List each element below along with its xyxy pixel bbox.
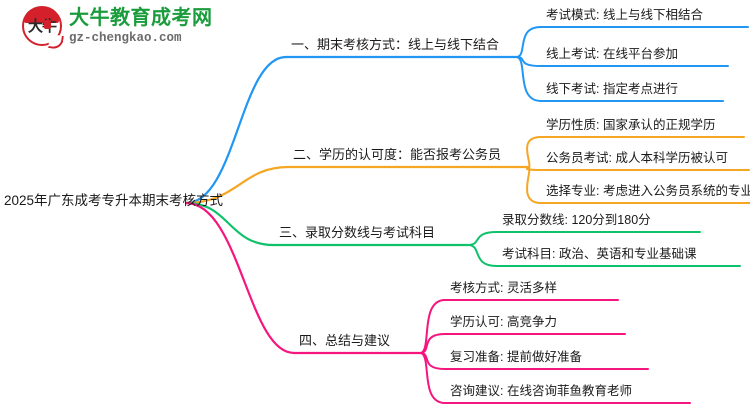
branch-node-4[interactable]: 四、总结与建议 xyxy=(299,334,390,347)
leaf-node-1-1[interactable]: 考试模式: 线上与线下相结合 xyxy=(546,9,703,22)
branch-node-3[interactable]: 三、录取分数线与考试科目 xyxy=(279,226,435,239)
brand-domain: gz-chengkao.com xyxy=(69,32,213,45)
root-node[interactable]: 2025年广东成考专升本期末考核方式 xyxy=(4,194,223,208)
branch-node-1[interactable]: 一、期末考核方式：线上与线下结合 xyxy=(291,38,499,51)
leaf-node-4-2[interactable]: 学历认可: 高竞争力 xyxy=(450,316,557,329)
seal-text: 大牛 xyxy=(22,19,62,34)
leaf-node-1-2[interactable]: 线上考试: 在线平台参加 xyxy=(546,48,678,61)
brand-name-cn: 大牛教育成考网 xyxy=(69,8,213,28)
leaf-node-2-3[interactable]: 选择专业: 考虑进入公务员系统的专业 xyxy=(546,185,750,198)
branch-node-2[interactable]: 二、学历的认可度：能否报考公务员 xyxy=(293,148,501,161)
leaf-node-3-1[interactable]: 录取分数线: 120分到180分 xyxy=(502,214,651,227)
leaf-node-4-4[interactable]: 咨询建议: 在线咨询菲鱼教育老师 xyxy=(450,385,632,398)
seal-tail-shape xyxy=(48,34,64,50)
brand-text-block: 大牛教育成考网 gz-chengkao.com xyxy=(69,8,213,45)
leaf-node-2-1[interactable]: 学历性质: 国家承认的正规学历 xyxy=(546,119,715,132)
mindmap-canvas: 大牛 大牛教育成考网 gz-chengkao.com 2025年广东成考专升本期… xyxy=(0,0,750,410)
leaf-node-2-2[interactable]: 公务员考试: 成人本科学历被认可 xyxy=(546,152,728,165)
leaf-node-1-3[interactable]: 线下考试: 指定考点进行 xyxy=(546,83,678,96)
leaf-node-3-2[interactable]: 考试科目: 政治、英语和专业基础课 xyxy=(502,248,696,261)
leaf-node-4-1[interactable]: 考核方式: 灵活多样 xyxy=(450,282,557,295)
seal-icon: 大牛 xyxy=(22,6,62,46)
site-logo: 大牛 大牛教育成考网 gz-chengkao.com xyxy=(22,6,213,46)
leaf-node-4-3[interactable]: 复习准备: 提前做好准备 xyxy=(450,351,582,364)
seal-dot-shape xyxy=(44,20,51,29)
